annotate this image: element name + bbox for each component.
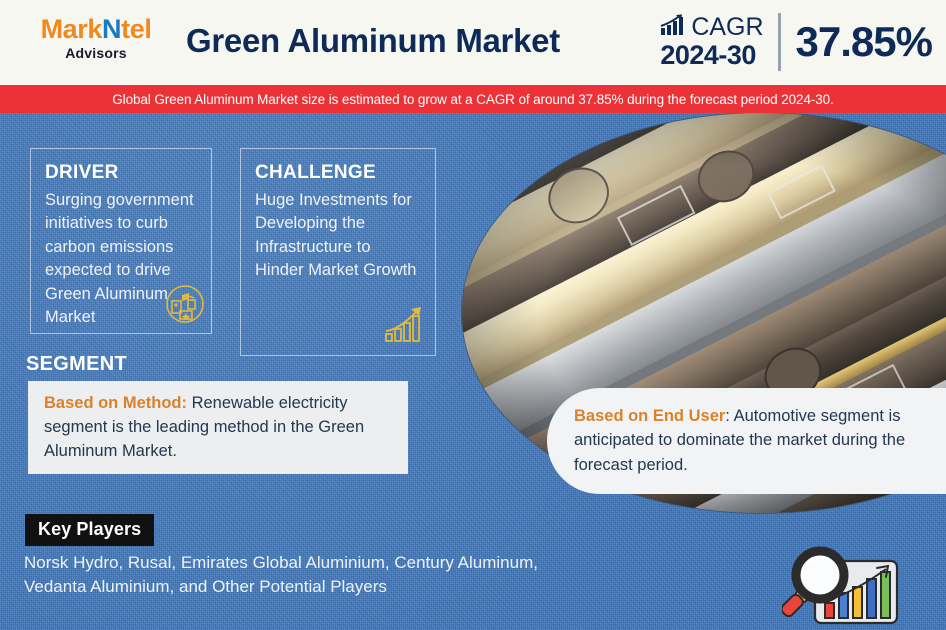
segment-method-text: Based on Method: Renewable electricity s… <box>44 392 392 463</box>
segment-method-card: Based on Method: Renewable electricity s… <box>28 381 408 474</box>
key-players-badge: Key Players <box>25 514 154 546</box>
logo-subtitle: Advisors <box>26 46 166 60</box>
logo-part-n: N <box>102 14 121 44</box>
cagr-label-row: CAGR <box>660 14 763 41</box>
cagr-years: 2024-30 <box>660 41 756 70</box>
segment-method-label: Based on Method: <box>44 394 187 412</box>
driver-box: DRIVER Surging government initiatives to… <box>30 148 212 334</box>
cagr-value: 37.85% <box>796 18 938 66</box>
magnifier-bar-chart-icon <box>782 545 902 627</box>
driver-title: DRIVER <box>45 162 197 184</box>
factory-globe-icon <box>165 284 205 329</box>
segment-heading: SEGMENT <box>26 353 127 376</box>
challenge-box: CHALLENGE Huge Investments for Developin… <box>240 148 436 356</box>
challenge-text: Huge Investments for Developing the Infr… <box>255 189 421 283</box>
logo-part-mark: Mark <box>41 14 102 44</box>
segment-end-user-card: Based on End User: Automotive segment is… <box>547 388 946 494</box>
page-title: Green Aluminum Market <box>186 22 560 60</box>
bar-chart-growth-icon <box>660 14 686 41</box>
challenge-title: CHALLENGE <box>255 162 421 184</box>
headline-banner-text: Global Green Aluminum Market size is est… <box>112 92 833 107</box>
marknte-logo[interactable]: MarkNtel Advisors <box>26 16 166 60</box>
cagr-left-group: CAGR 2024-30 <box>660 14 777 70</box>
growth-bar-chart-icon <box>383 304 427 349</box>
infographic-root: MarkNtel Advisors Green Aluminum Market <box>0 0 946 630</box>
key-players-list: Norsk Hydro, Rusal, Emirates Global Alum… <box>24 551 554 600</box>
segment-end-user-text: Based on End User: Automotive segment is… <box>574 404 946 477</box>
headline-banner: Global Green Aluminum Market size is est… <box>0 85 946 113</box>
logo-part-tel: tel <box>121 14 151 44</box>
logo-wordmark: MarkNtel <box>26 16 166 43</box>
cagr-block: CAGR 2024-30 37.85% <box>660 8 938 76</box>
cagr-divider <box>778 13 781 71</box>
header-bar: MarkNtel Advisors Green Aluminum Market <box>0 0 946 85</box>
cagr-label: CAGR <box>691 15 763 40</box>
segment-end-user-label: Based on End User <box>574 407 725 425</box>
